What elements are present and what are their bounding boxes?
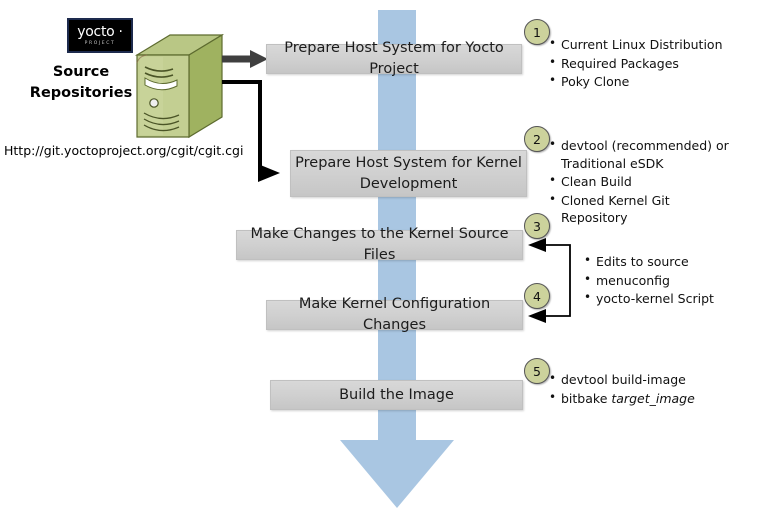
note-item: menuconfig xyxy=(584,272,749,290)
notes-step1: Current Linux Distribution Required Pack… xyxy=(549,36,749,92)
diagram-canvas: yocto · PROJECT Source Repositories Http… xyxy=(0,0,769,517)
note-item: Required Packages xyxy=(549,55,749,73)
note-item: Current Linux Distribution xyxy=(549,36,749,54)
notes-step2: devtool (recommended) or Traditional eSD… xyxy=(549,137,729,228)
note-item: devtool (recommended) or Traditional eSD… xyxy=(549,137,729,172)
step-badge-5: 5 xyxy=(524,358,550,384)
arrowhead-to-step2 xyxy=(258,164,280,182)
process-box-step3[interactable]: Make Changes to the Kernel Source Files xyxy=(236,230,523,260)
step-badge-2: 2 xyxy=(524,126,550,152)
note-item: devtool build-image xyxy=(549,371,749,389)
process-box-step4[interactable]: Make Kernel Configuration Changes xyxy=(266,300,523,330)
step-badge-1: 1 xyxy=(524,19,550,45)
yocto-project-logo: yocto · PROJECT xyxy=(67,18,133,53)
source-repositories-label: Source Repositories xyxy=(22,62,140,104)
step-badge-4: 4 xyxy=(524,283,550,309)
arrowhead-to-step4 xyxy=(528,309,546,323)
process-box-step2[interactable]: Prepare Host System for Kernel Developme… xyxy=(290,150,527,197)
notes-step5: devtool build-image bitbake target_image xyxy=(549,371,749,408)
source-label-line2: Repositories xyxy=(22,83,140,104)
logo-wordmark: yocto · xyxy=(77,25,122,39)
logo-subtitle: PROJECT xyxy=(85,40,116,47)
source-label-line1: Source xyxy=(22,62,140,83)
note-item: bitbake target_image xyxy=(549,390,749,408)
process-box-step5[interactable]: Build the Image xyxy=(270,380,523,410)
note-command-argument: target_image xyxy=(611,391,694,406)
flow-arrow-head xyxy=(340,440,454,508)
note-item: Cloned Kernel Git Repository xyxy=(549,192,729,227)
note-item: Clean Build xyxy=(549,173,729,191)
process-box-step1[interactable]: Prepare Host System for Yocto Project xyxy=(266,44,522,74)
arrowhead-to-step3 xyxy=(528,238,546,252)
notes-steps-3-and-4: Edits to source menuconfig yocto-kernel … xyxy=(584,253,749,309)
note-command-prefix: bitbake xyxy=(561,391,611,406)
step-badge-3: 3 xyxy=(524,213,550,239)
note-item: Edits to source xyxy=(584,253,749,271)
server-tower-icon xyxy=(133,33,225,145)
source-repository-url: Http://git.yoctoproject.org/cgit/cgit.cg… xyxy=(4,143,243,158)
note-item: yocto-kernel Script xyxy=(584,290,749,308)
note-item: Poky Clone xyxy=(549,73,749,91)
